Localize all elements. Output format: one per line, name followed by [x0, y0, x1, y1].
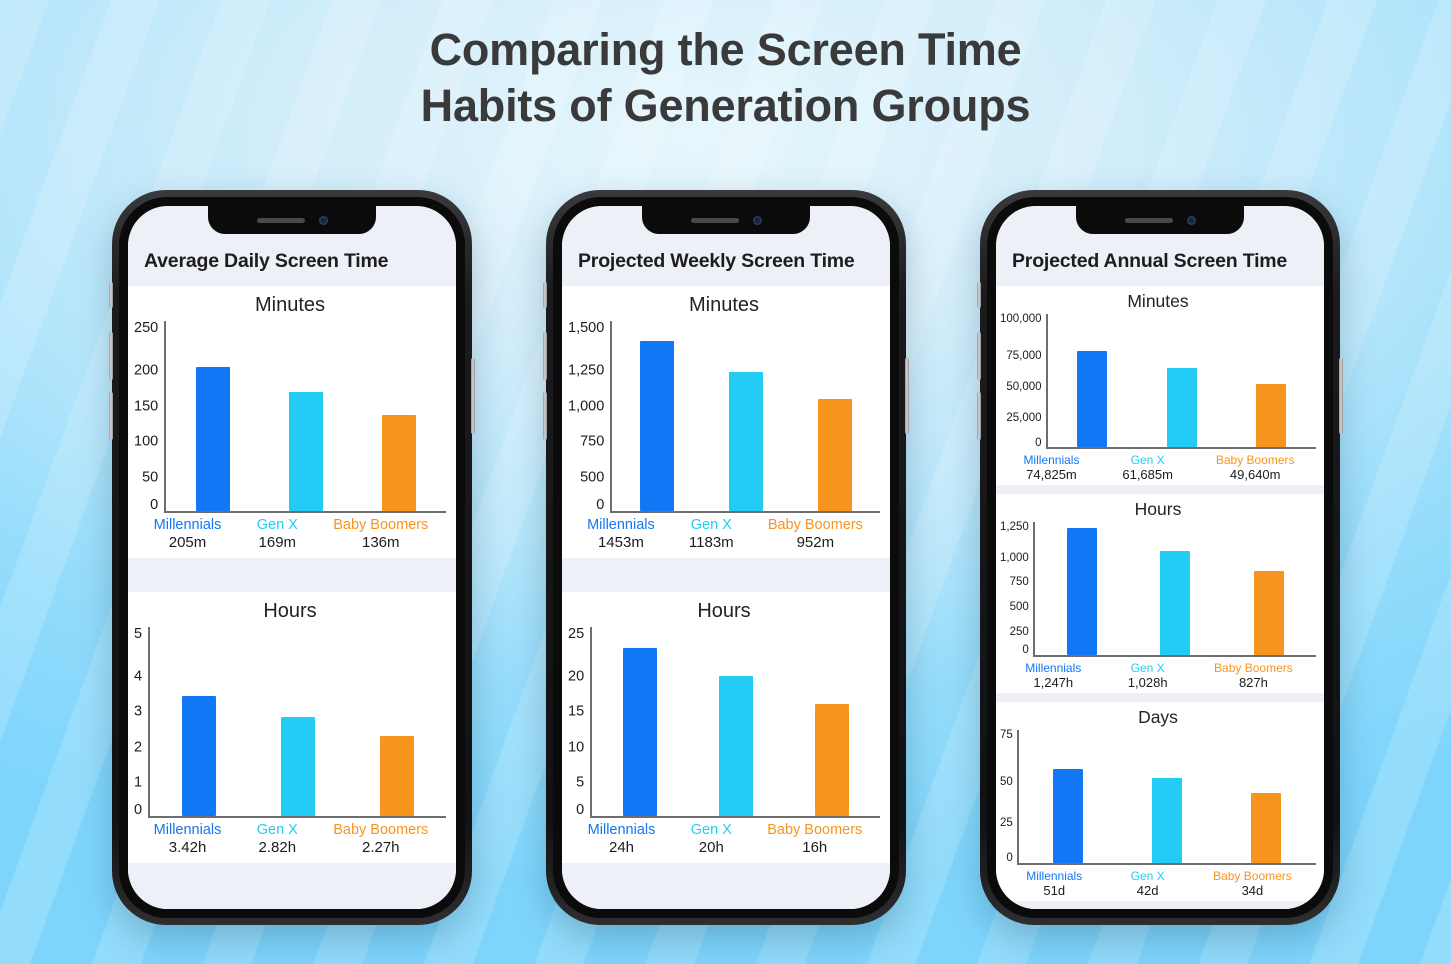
x-axis-group-gen-x: Gen X61,685m: [1122, 453, 1173, 482]
category-label: Gen X: [257, 822, 298, 839]
bar-gen-x[interactable]: [289, 392, 323, 511]
title-line-2: Habits of Generation Groups: [0, 78, 1451, 134]
category-label: Millennials: [1023, 453, 1079, 467]
power-button[interactable]: [1339, 358, 1343, 434]
data-value-label: 74,825m: [1023, 467, 1079, 482]
bars-container: [148, 627, 446, 819]
data-value-label: 1453m: [587, 534, 655, 552]
y-axis-tick-label: 2: [134, 740, 142, 755]
app-header-title: Average Daily Screen Time: [144, 250, 456, 273]
category-label: Baby Boomers: [333, 517, 428, 534]
bars-container: [1033, 522, 1316, 657]
power-button[interactable]: [471, 358, 475, 434]
y-axis-tick-label: 3: [134, 705, 142, 720]
data-value-label: 169m: [257, 534, 298, 552]
data-value-label: 34d: [1213, 883, 1292, 898]
y-axis: 1,5001,2501,0007505000: [568, 321, 610, 513]
y-axis-tick-label: 0: [1006, 853, 1012, 865]
bar-baby-boomers[interactable]: [1256, 384, 1286, 447]
data-value-label: 1183m: [689, 534, 734, 552]
notch: [1076, 206, 1244, 234]
y-axis-tick-label: 1,000: [568, 399, 604, 414]
plot-area: 543210: [134, 627, 446, 819]
bar-gen-x[interactable]: [281, 717, 315, 816]
y-axis-tick-label: 25: [1000, 818, 1013, 830]
bar-millennials[interactable]: [182, 696, 216, 816]
category-label: Millennials: [1026, 869, 1082, 883]
bar-millennials[interactable]: [196, 367, 230, 511]
category-label: Gen X: [257, 517, 298, 534]
bars-container: [610, 321, 880, 513]
x-axis-labels: Millennials205mGen X169mBaby Boomers136m: [134, 513, 446, 552]
card-divider: [562, 558, 890, 592]
data-value-label: 136m: [333, 534, 428, 552]
x-axis-group-millennials: Millennials24h: [588, 822, 656, 857]
category-label: Gen X: [1128, 661, 1168, 675]
x-axis-group-millennials: Millennials74,825m: [1023, 453, 1079, 482]
bars-container: [164, 321, 446, 513]
speaker-icon: [257, 218, 305, 223]
phone-bezel: Average Daily Screen TimeMinutes25020015…: [119, 197, 465, 918]
bar-gen-x[interactable]: [719, 676, 753, 816]
category-label: Millennials: [154, 517, 222, 534]
data-value-label: 827h: [1214, 675, 1293, 690]
y-axis-tick-label: 0: [1035, 438, 1041, 450]
x-axis-labels: Millennials74,825mGen X61,685mBaby Boome…: [1000, 449, 1316, 482]
bars-container: [1017, 730, 1316, 865]
y-axis-tick-label: 1,000: [1000, 552, 1029, 564]
y-axis-tick-label: 15: [568, 705, 584, 720]
notch: [642, 206, 810, 234]
x-axis-group-millennials: Millennials51d: [1026, 869, 1082, 898]
volume-button[interactable]: [977, 332, 981, 380]
plot-area: 100,00075,00050,00025,0000: [1000, 314, 1316, 449]
y-axis-tick-label: 100,000: [1000, 314, 1042, 326]
phone-screen: Average Daily Screen TimeMinutes25020015…: [128, 206, 456, 909]
bar-millennials[interactable]: [640, 341, 674, 511]
chart-card[interactable]: Days7550250Millennials51dGen X42dBaby Bo…: [996, 702, 1324, 901]
y-axis-tick-label: 50,000: [1006, 382, 1041, 394]
x-axis-labels: Millennials3.42hGen X2.82hBaby Boomers2.…: [134, 818, 446, 857]
data-value-label: 952m: [768, 534, 863, 552]
y-axis-tick-label: 250: [1010, 627, 1029, 639]
data-value-label: 1,247h: [1025, 675, 1081, 690]
y-axis-tick-label: 1,250: [1000, 522, 1029, 534]
bar-baby-boomers[interactable]: [1251, 793, 1281, 863]
app-header-title: Projected Weekly Screen Time: [578, 250, 890, 273]
category-label: Gen X: [689, 517, 734, 534]
card-divider: [996, 693, 1324, 702]
x-axis-labels: Millennials24hGen X20hBaby Boomers16h: [568, 818, 880, 857]
data-value-label: 2.27h: [333, 839, 428, 857]
data-value-label: 2.82h: [257, 839, 298, 857]
bar-millennials[interactable]: [1053, 769, 1083, 863]
category-label: Millennials: [154, 822, 222, 839]
x-axis-group-baby-boomers: Baby Boomers34d: [1213, 869, 1292, 898]
y-axis-tick-label: 5: [576, 775, 584, 790]
data-value-label: 51d: [1026, 883, 1082, 898]
y-axis: 543210: [134, 627, 148, 819]
phone-bezel: Projected Weekly Screen TimeMinutes1,500…: [553, 197, 899, 918]
y-axis-tick-label: 100: [134, 434, 158, 449]
y-axis: 2520151050: [568, 627, 590, 819]
plot-area: 1,2501,0007505002500: [1000, 522, 1316, 657]
x-axis-labels: Millennials1,247hGen X1,028hBaby Boomers…: [1000, 657, 1316, 690]
bar-baby-boomers[interactable]: [380, 736, 414, 816]
chart-card[interactable]: Hours543210Millennials3.42hGen X2.82hBab…: [128, 592, 456, 864]
y-axis-tick-label: 0: [576, 803, 584, 818]
category-label: Millennials: [587, 517, 655, 534]
y-axis-tick-label: 10: [568, 740, 584, 755]
chart-card-list: Minutes1,5001,2501,0007505000Millennials…: [562, 286, 890, 909]
x-axis-group-millennials: Millennials3.42h: [154, 822, 222, 857]
y-axis-tick-label: 75,000: [1006, 351, 1041, 363]
category-label: Baby Boomers: [333, 822, 428, 839]
chart-title: Days: [1000, 707, 1316, 728]
x-axis-group-baby-boomers: Baby Boomers2.27h: [333, 822, 428, 857]
plot-area: 7550250: [1000, 730, 1316, 865]
category-label: Gen X: [1122, 453, 1173, 467]
mute-switch[interactable]: [977, 282, 981, 308]
volume-button[interactable]: [543, 332, 547, 380]
bar-baby-boomers[interactable]: [382, 415, 416, 510]
power-button[interactable]: [905, 358, 909, 434]
bars-container: [590, 627, 880, 819]
app-header-title: Projected Annual Screen Time: [1012, 250, 1324, 273]
y-axis-tick-label: 750: [580, 434, 604, 449]
mute-switch[interactable]: [109, 282, 113, 308]
x-axis-group-gen-x: Gen X2.82h: [257, 822, 298, 857]
data-value-label: 16h: [767, 839, 862, 857]
y-axis-tick-label: 1,250: [568, 364, 604, 379]
chart-card[interactable]: Minutes1,5001,2501,0007505000Millennials…: [562, 286, 890, 558]
y-axis-tick-label: 25: [568, 627, 584, 642]
category-label: Baby Boomers: [767, 822, 862, 839]
screen-bottom-band: [562, 863, 890, 909]
y-axis-tick-label: 200: [134, 364, 158, 379]
chart-title: Hours: [134, 600, 446, 623]
screen-bottom-band: [128, 863, 456, 909]
chart-card[interactable]: Minutes250200150100500Millennials205mGen…: [128, 286, 456, 558]
plot-area: 2520151050: [568, 627, 880, 819]
y-axis-tick-label: 75: [1000, 730, 1013, 742]
y-axis-tick-label: 1: [134, 775, 142, 790]
y-axis-tick-label: 25,000: [1006, 412, 1041, 424]
phone-mockup-1: Average Daily Screen TimeMinutes25020015…: [112, 190, 472, 925]
category-label: Gen X: [691, 822, 732, 839]
bars-container: [1046, 314, 1316, 449]
chart-card-list: Minutes100,00075,00050,00025,0000Millenn…: [996, 286, 1324, 909]
speaker-icon: [691, 218, 739, 223]
title-line-1: Comparing the Screen Time: [0, 22, 1451, 78]
x-axis-group-baby-boomers: Baby Boomers952m: [768, 517, 863, 552]
front-camera-icon: [1187, 216, 1196, 225]
front-camera-icon: [319, 216, 328, 225]
y-axis-tick-label: 20: [568, 669, 584, 684]
chart-title: Minutes: [134, 294, 446, 317]
data-value-label: 20h: [691, 839, 732, 857]
card-divider: [128, 558, 456, 592]
volume-button[interactable]: [977, 392, 981, 440]
bar-baby-boomers[interactable]: [818, 399, 852, 510]
phone-mockup-3: Projected Annual Screen TimeMinutes100,0…: [980, 190, 1340, 925]
category-label: Gen X: [1131, 869, 1165, 883]
data-value-label: 3.42h: [154, 839, 222, 857]
x-axis-group-gen-x: Gen X169m: [257, 517, 298, 552]
x-axis-group-baby-boomers: Baby Boomers49,640m: [1216, 453, 1295, 482]
x-axis-group-baby-boomers: Baby Boomers136m: [333, 517, 428, 552]
data-value-label: 24h: [588, 839, 656, 857]
y-axis-tick-label: 0: [150, 498, 158, 513]
volume-button[interactable]: [109, 332, 113, 380]
plot-area: 250200150100500: [134, 321, 446, 513]
y-axis-tick-label: 4: [134, 669, 142, 684]
y-axis: 250200150100500: [134, 321, 164, 513]
volume-button[interactable]: [543, 392, 547, 440]
x-axis-group-gen-x: Gen X1,028h: [1128, 661, 1168, 690]
x-axis-group-millennials: Millennials205m: [154, 517, 222, 552]
x-axis-group-baby-boomers: Baby Boomers827h: [1214, 661, 1293, 690]
chart-title: Minutes: [568, 294, 880, 317]
phone-screen: Projected Weekly Screen TimeMinutes1,500…: [562, 206, 890, 909]
y-axis-tick-label: 0: [1022, 645, 1028, 657]
y-axis: 7550250: [1000, 730, 1017, 865]
chart-card[interactable]: Hours1,2501,0007505002500Millennials1,24…: [996, 494, 1324, 693]
bar-millennials[interactable]: [1077, 351, 1107, 447]
x-axis-labels: Millennials51dGen X42dBaby Boomers34d: [1000, 865, 1316, 898]
y-axis-tick-label: 150: [134, 399, 158, 414]
x-axis-group-baby-boomers: Baby Boomers16h: [767, 822, 862, 857]
y-axis-tick-label: 50: [142, 470, 158, 485]
y-axis-tick-label: 1,500: [568, 321, 604, 336]
y-axis-tick-label: 250: [134, 321, 158, 336]
chart-title: Minutes: [1000, 291, 1316, 312]
phone-mockup-2: Projected Weekly Screen TimeMinutes1,500…: [546, 190, 906, 925]
chart-card[interactable]: Minutes100,00075,00050,00025,0000Millenn…: [996, 286, 1324, 485]
y-axis-tick-label: 750: [1010, 577, 1029, 589]
screen-bottom-band: [996, 901, 1324, 909]
y-axis: 1,2501,0007505002500: [1000, 522, 1033, 657]
phone-bezel: Projected Annual Screen TimeMinutes100,0…: [987, 197, 1333, 918]
y-axis-tick-label: 500: [580, 470, 604, 485]
infographic-canvas: Comparing the Screen Time Habits of Gene…: [0, 0, 1451, 964]
plot-area: 1,5001,2501,0007505000: [568, 321, 880, 513]
notch: [208, 206, 376, 234]
data-value-label: 205m: [154, 534, 222, 552]
chart-title: Hours: [568, 600, 880, 623]
page-title: Comparing the Screen Time Habits of Gene…: [0, 22, 1451, 134]
y-axis-tick-label: 5: [134, 627, 142, 642]
x-axis-group-millennials: Millennials1,247h: [1025, 661, 1081, 690]
data-value-label: 49,640m: [1216, 467, 1295, 482]
data-value-label: 42d: [1131, 883, 1165, 898]
speaker-icon: [1125, 218, 1173, 223]
chart-card-list: Minutes250200150100500Millennials205mGen…: [128, 286, 456, 909]
bar-gen-x[interactable]: [1152, 778, 1182, 863]
x-axis-labels: Millennials1453mGen X1183mBaby Boomers95…: [568, 513, 880, 552]
volume-button[interactable]: [109, 392, 113, 440]
y-axis: 100,00075,00050,00025,0000: [1000, 314, 1046, 449]
category-label: Millennials: [588, 822, 656, 839]
bar-baby-boomers[interactable]: [815, 704, 849, 816]
chart-title: Hours: [1000, 499, 1316, 520]
y-axis-tick-label: 0: [596, 498, 604, 513]
category-label: Baby Boomers: [1216, 453, 1295, 467]
front-camera-icon: [753, 216, 762, 225]
bar-millennials[interactable]: [1067, 528, 1097, 655]
bar-baby-boomers[interactable]: [1254, 571, 1284, 655]
data-value-label: 61,685m: [1122, 467, 1173, 482]
data-value-label: 1,028h: [1128, 675, 1168, 690]
y-axis-tick-label: 500: [1010, 602, 1029, 614]
x-axis-group-gen-x: Gen X20h: [691, 822, 732, 857]
x-axis-group-millennials: Millennials1453m: [587, 517, 655, 552]
bar-gen-x[interactable]: [1160, 551, 1190, 655]
y-axis-tick-label: 0: [134, 803, 142, 818]
card-divider: [996, 485, 1324, 494]
bar-millennials[interactable]: [623, 648, 657, 816]
category-label: Baby Boomers: [1214, 661, 1293, 675]
bar-gen-x[interactable]: [1167, 368, 1197, 447]
x-axis-group-gen-x: Gen X1183m: [689, 517, 734, 552]
category-label: Baby Boomers: [768, 517, 863, 534]
bar-gen-x[interactable]: [729, 372, 763, 510]
x-axis-group-gen-x: Gen X42d: [1131, 869, 1165, 898]
phone-screen: Projected Annual Screen TimeMinutes100,0…: [996, 206, 1324, 909]
category-label: Baby Boomers: [1213, 869, 1292, 883]
y-axis-tick-label: 50: [1000, 777, 1013, 789]
chart-card[interactable]: Hours2520151050Millennials24hGen X20hBab…: [562, 592, 890, 864]
category-label: Millennials: [1025, 661, 1081, 675]
mute-switch[interactable]: [543, 282, 547, 308]
